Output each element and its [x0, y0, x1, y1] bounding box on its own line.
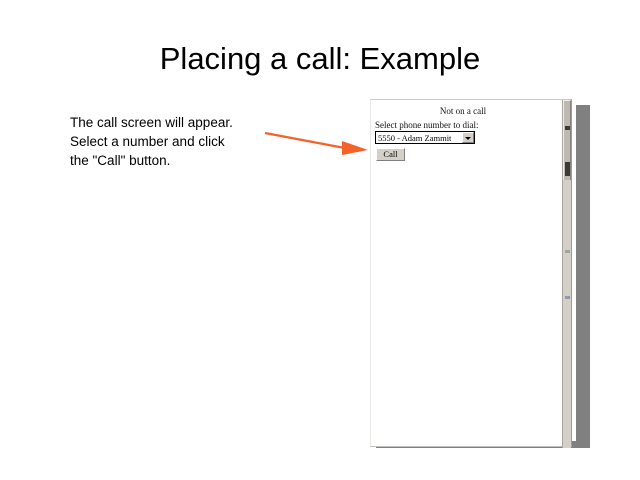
body-text-block: The call screen will appear. Select a nu…: [70, 113, 270, 170]
app-window-frame: Not on a call Select phone number to dia…: [370, 99, 572, 447]
body-text-line: the "Call" button.: [70, 151, 270, 170]
slide-canvas: Placing a call: Example The call screen …: [0, 0, 640, 480]
embedded-app-screenshot: Not on a call Select phone number to dia…: [370, 99, 572, 447]
arrow-icon: [258, 122, 376, 162]
app-window-content: Not on a call Select phone number to dia…: [374, 103, 562, 443]
app-vertical-scrollbar[interactable]: [562, 100, 571, 448]
chevron-down-icon[interactable]: [462, 132, 474, 143]
scrollbar-mark: [565, 250, 570, 253]
scrollbar-mark: [565, 162, 570, 176]
screenshot-shadow-right: [576, 105, 590, 448]
scrollbar-mark: [565, 296, 570, 299]
call-status-text: Not on a call: [374, 106, 552, 116]
body-text-line: The call screen will appear.: [70, 113, 270, 132]
phone-number-select[interactable]: 5550 - Adam Zammit: [375, 131, 475, 144]
call-button[interactable]: Call: [376, 148, 405, 161]
page-title: Placing a call: Example: [0, 40, 640, 78]
scrollbar-mark: [565, 126, 570, 130]
phone-select-label: Select phone number to dial:: [375, 120, 478, 130]
phone-number-selected-value: 5550 - Adam Zammit: [378, 133, 451, 143]
body-text-line: Select a number and click: [70, 132, 270, 151]
